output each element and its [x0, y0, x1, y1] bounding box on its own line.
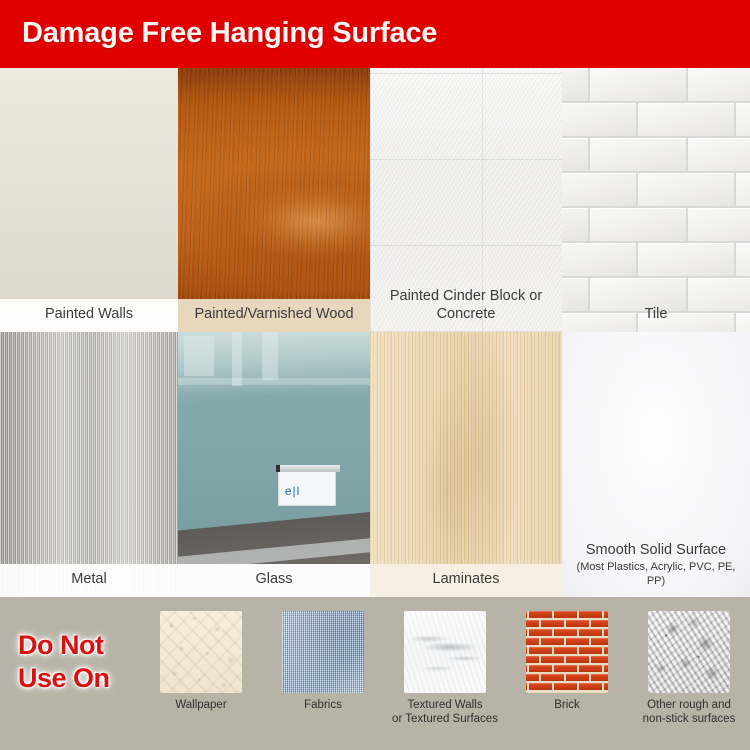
do-not-use-label-wallpaper: Wallpaper: [175, 699, 226, 713]
laminate-wood-swatch: [370, 332, 562, 597]
surface-cell-tile: Tile: [562, 68, 750, 332]
surface-cell-metal: Metal: [0, 332, 178, 597]
damage-free-hanging-surface-infographic: Damage Free Hanging Surface Painted Wall…: [0, 0, 750, 750]
sign-text: e|l: [285, 484, 300, 498]
surface-label-tile: Tile: [562, 299, 750, 332]
do-not-use-label-brick: Brick: [554, 699, 580, 713]
surface-cell-painted-cinder-block: Painted Cinder Block or Concrete: [370, 68, 562, 332]
do-not-use-title-line1: Do Not: [18, 629, 138, 662]
brushed-metal-swatch: [0, 332, 178, 597]
label-line2: non-stick surfaces: [643, 713, 736, 725]
surface-label-laminates: Laminates: [370, 564, 562, 597]
do-not-use-item-textured-walls: Textured Walls or Textured Surfaces: [384, 597, 506, 726]
textured-wall-swatch: [404, 611, 486, 693]
approved-surfaces-grid: Painted Walls Painted/Varnished Wood Pai…: [0, 68, 750, 597]
subway-tile-swatch: [562, 68, 750, 332]
do-not-use-label-textured-walls: Textured Walls or Textured Surfaces: [392, 699, 498, 726]
label-line1: Fabrics: [304, 699, 342, 711]
surface-label-smooth-solid-surface: Smooth Solid Surface (Most Plastics, Acr…: [562, 535, 750, 597]
label-line1: Wallpaper: [175, 699, 226, 711]
glass-wall-sign: e|l: [278, 470, 336, 506]
painted-wall-swatch: [0, 68, 178, 332]
surface-label-painted-walls: Painted Walls: [0, 299, 178, 332]
do-not-use-item-brick: Brick: [506, 597, 628, 713]
surface-cell-painted-walls: Painted Walls: [0, 68, 178, 332]
do-not-use-label-rough-surfaces: Other rough and non-stick surfaces: [643, 699, 736, 726]
sign-mount-bar: [276, 465, 340, 472]
do-not-use-title: Do Not Use On: [18, 629, 138, 695]
brick-swatch: [526, 611, 608, 693]
do-not-use-item-rough-surfaces: Other rough and non-stick surfaces: [628, 597, 750, 726]
glass-panel-swatch: e|l: [178, 332, 370, 597]
surface-label-metal: Metal: [0, 564, 178, 597]
glass-horizon-reflection: [178, 378, 370, 385]
do-not-use-item-fabrics: Fabrics: [262, 597, 384, 713]
surface-label-painted-cinder-block: Painted Cinder Block or Concrete: [370, 281, 562, 332]
surface-label-smooth-solid-sub: (Most Plastics, Acrylic, PVC, PE, PP): [566, 560, 746, 588]
rough-surface-swatch: [648, 611, 730, 693]
surface-cell-laminates: Laminates: [370, 332, 562, 597]
fabric-swatch: [282, 611, 364, 693]
label-line1: Other rough and: [647, 699, 731, 711]
surface-cell-glass: e|l Glass: [178, 332, 370, 597]
glass-beam-reflection: [262, 332, 278, 380]
do-not-use-title-line2: Use On: [18, 662, 138, 695]
varnished-wood-swatch: [178, 68, 370, 332]
do-not-use-items: Wallpaper Fabrics Textured Walls or Text…: [140, 597, 750, 750]
label-line1: Textured Walls: [408, 699, 483, 711]
label-line2: or Textured Surfaces: [392, 713, 498, 725]
do-not-use-item-wallpaper: Wallpaper: [140, 597, 262, 713]
wallpaper-swatch: [160, 611, 242, 693]
do-not-use-label-fabrics: Fabrics: [304, 699, 342, 713]
glass-beam-reflection: [184, 336, 214, 376]
surface-label-painted-varnished-wood: Painted/Varnished Wood: [178, 299, 370, 332]
label-line1: Brick: [554, 699, 580, 711]
surface-cell-painted-varnished-wood: Painted/Varnished Wood: [178, 68, 370, 332]
header-banner: Damage Free Hanging Surface: [0, 0, 750, 68]
surface-cell-smooth-solid-surface: Smooth Solid Surface (Most Plastics, Acr…: [562, 332, 750, 597]
surface-label-glass: Glass: [178, 564, 370, 597]
surface-label-smooth-solid-main: Smooth Solid Surface: [586, 542, 726, 558]
do-not-use-section: Do Not Use On Wallpaper Fabrics Textured…: [0, 597, 750, 750]
page-title: Damage Free Hanging Surface: [22, 17, 437, 50]
